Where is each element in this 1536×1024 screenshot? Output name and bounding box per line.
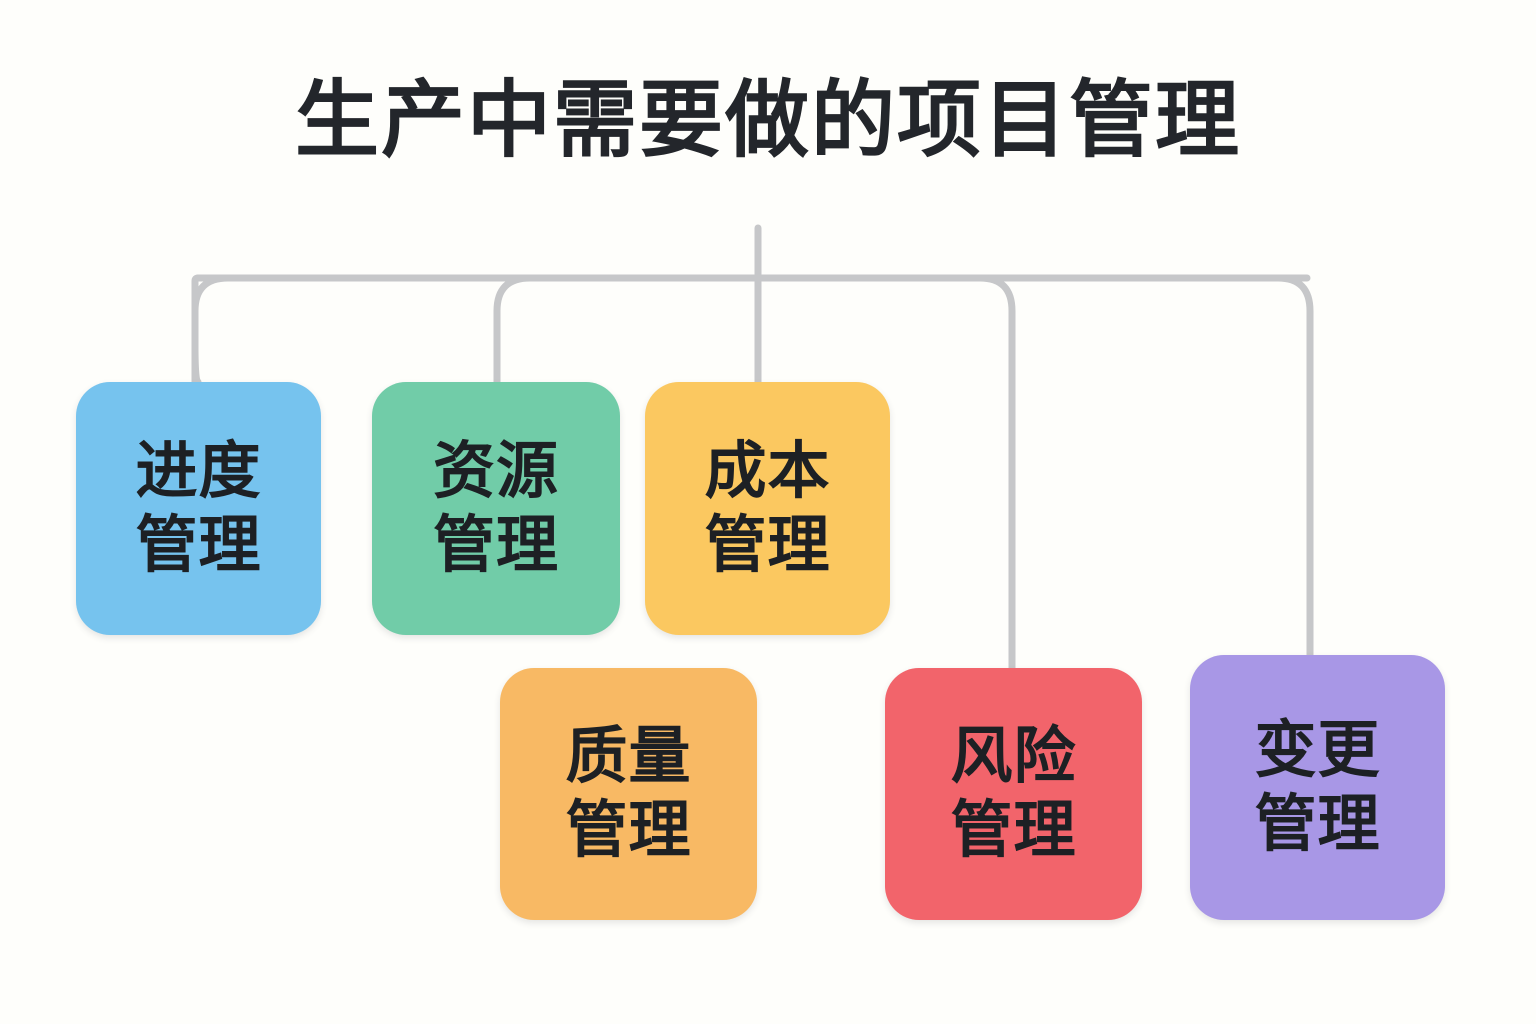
connector-to-change bbox=[1278, 278, 1310, 655]
node-cost-label-line2: 管理 bbox=[704, 508, 830, 584]
connector-to-schedule bbox=[195, 278, 198, 382]
connector-to-risk bbox=[980, 278, 1012, 668]
node-schedule[interactable]: 进度 管理 bbox=[76, 382, 321, 635]
node-resource[interactable]: 资源 管理 bbox=[372, 382, 620, 635]
node-schedule-label-line1: 进度 bbox=[135, 434, 261, 510]
node-schedule-label-line2: 管理 bbox=[135, 508, 261, 584]
node-change-label-line2: 管理 bbox=[1254, 787, 1380, 863]
node-resource-label-line2: 管理 bbox=[433, 508, 559, 584]
node-resource-label-line1: 资源 bbox=[433, 434, 559, 510]
node-quality-label-line1: 质量 bbox=[565, 719, 691, 795]
diagram-canvas: 生产中需要做的项目管理 进度 管理 资源 管理 成本 bbox=[0, 0, 1536, 1024]
connector-left-corner bbox=[195, 278, 228, 382]
node-change[interactable]: 变更 管理 bbox=[1190, 655, 1445, 920]
node-risk-label-line1: 风险 bbox=[950, 719, 1076, 795]
node-change-label-line1: 变更 bbox=[1254, 713, 1380, 789]
node-risk[interactable]: 风险 管理 bbox=[885, 668, 1142, 920]
node-quality[interactable]: 质量 管理 bbox=[500, 668, 757, 920]
node-quality-label-line2: 管理 bbox=[565, 793, 691, 869]
node-risk-label-line2: 管理 bbox=[950, 793, 1076, 869]
node-cost[interactable]: 成本 管理 bbox=[645, 382, 890, 635]
page-title: 生产中需要做的项目管理 bbox=[0, 72, 1536, 168]
node-cost-label-line1: 成本 bbox=[704, 434, 830, 510]
connector-to-resource bbox=[497, 278, 530, 382]
